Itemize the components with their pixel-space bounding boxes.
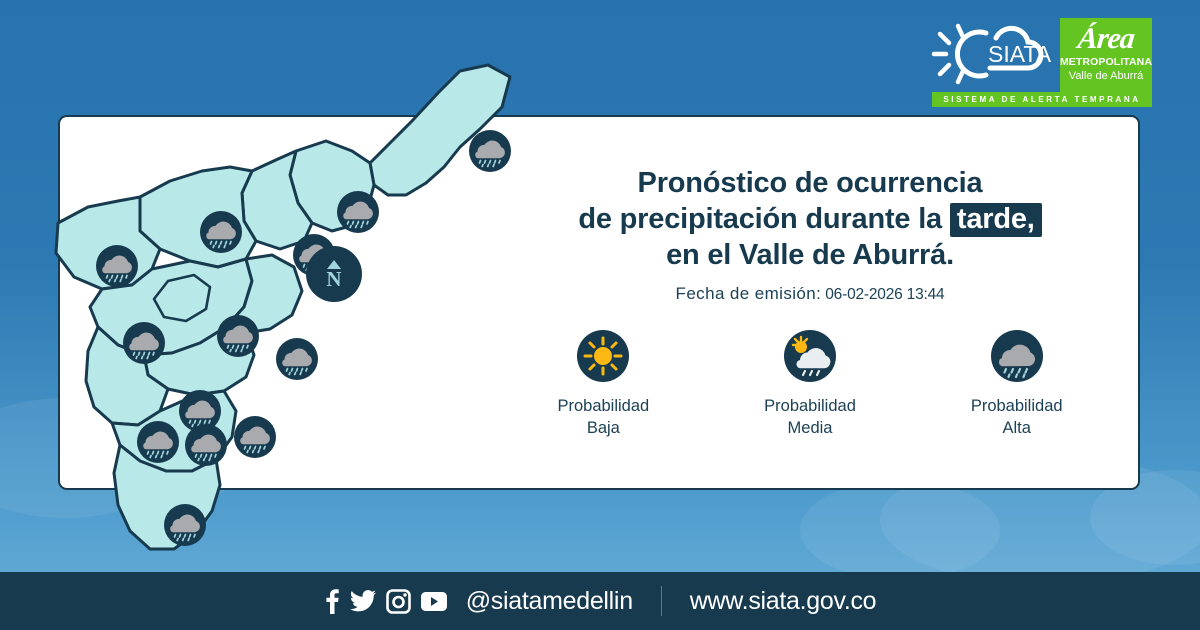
- siata-tagline-banner: SISTEMA DE ALERTA TEMPRANA: [932, 92, 1152, 107]
- area-logo-line2: Valle de Aburrá: [1069, 69, 1143, 83]
- svg-text:SIATA: SIATA: [988, 41, 1052, 67]
- youtube-icon[interactable]: [420, 591, 448, 612]
- emission-date: Fecha de emisión:06-02-2026 13:44: [500, 284, 1120, 304]
- map-station-cloud-rain-icon: [336, 190, 380, 234]
- title-line-1: Pronóstico de ocurrencia: [500, 165, 1120, 201]
- social-icons: [324, 587, 448, 615]
- map-station-cloud-rain-icon: [199, 210, 243, 254]
- emission-value: 06-02-2026 13:44: [825, 286, 944, 303]
- title-line-2: de precipitación durante la tarde,: [500, 201, 1120, 237]
- map-station-cloud-rain-icon: [163, 503, 207, 547]
- website-url[interactable]: www.siata.gov.co: [690, 587, 876, 616]
- north-letter: N: [326, 270, 341, 289]
- map-station-cloud-rain-icon: [136, 420, 180, 464]
- footer-divider: [661, 586, 662, 616]
- map-station-cloud-rain-icon: [95, 244, 139, 288]
- legend-label-baja: Probabilidad Baja: [557, 395, 649, 439]
- legend-label-media: Probabilidad Media: [764, 395, 856, 439]
- siata-tagline-text: SISTEMA DE ALERTA TEMPRANA: [943, 95, 1140, 104]
- legend-item-alta: Probabilidad Alta: [913, 330, 1120, 439]
- area-logo-script: Área: [1076, 22, 1136, 56]
- area-metropolitana-logo: Área METROPOLITANA Valle de Aburrá: [1060, 18, 1152, 94]
- legend-item-baja: Probabilidad Baja: [500, 330, 707, 439]
- map-station-cloud-rain-icon: [122, 321, 166, 365]
- cloud-rain-icon: [991, 330, 1043, 382]
- sun-icon: [577, 330, 629, 382]
- social-handle[interactable]: @siatamedellin: [466, 587, 633, 616]
- logo-group: SIATA Área METROPOLITANA Valle de Aburrá: [924, 18, 1152, 94]
- north-arrow-icon: N: [306, 246, 362, 302]
- instagram-icon[interactable]: [386, 589, 411, 614]
- probability-legend: Probabilidad Baja: [500, 330, 1120, 439]
- map-station-cloud-rain-icon: [233, 415, 277, 459]
- area-logo-line1: METROPOLITANA: [1060, 56, 1152, 69]
- legend-label-alta: Probabilidad Alta: [971, 395, 1063, 439]
- map-station-cloud-rain-icon: [184, 423, 228, 467]
- title-highlight-tarde: tarde,: [950, 203, 1042, 237]
- valle-de-aburra-map: [40, 55, 520, 575]
- siata-logo: SIATA: [924, 18, 1052, 90]
- background-cloud: [800, 480, 1000, 580]
- footer-bar: @siatamedellin www.siata.gov.co: [0, 572, 1200, 630]
- facebook-icon[interactable]: [324, 587, 340, 615]
- map-station-cloud-rain-icon: [275, 337, 319, 381]
- sun-cloud-rain-icon: [784, 330, 836, 382]
- map-station-cloud-rain-icon: [216, 314, 260, 358]
- emission-label: Fecha de emisión:: [676, 284, 822, 303]
- page-title: Pronóstico de ocurrencia de precipitació…: [500, 165, 1120, 273]
- twitter-icon[interactable]: [349, 588, 377, 614]
- title-line-3: en el Valle de Aburrá.: [500, 237, 1120, 273]
- legend-item-media: Probabilidad Media: [707, 330, 914, 439]
- title-line-2-text: de precipitación durante la: [578, 203, 942, 235]
